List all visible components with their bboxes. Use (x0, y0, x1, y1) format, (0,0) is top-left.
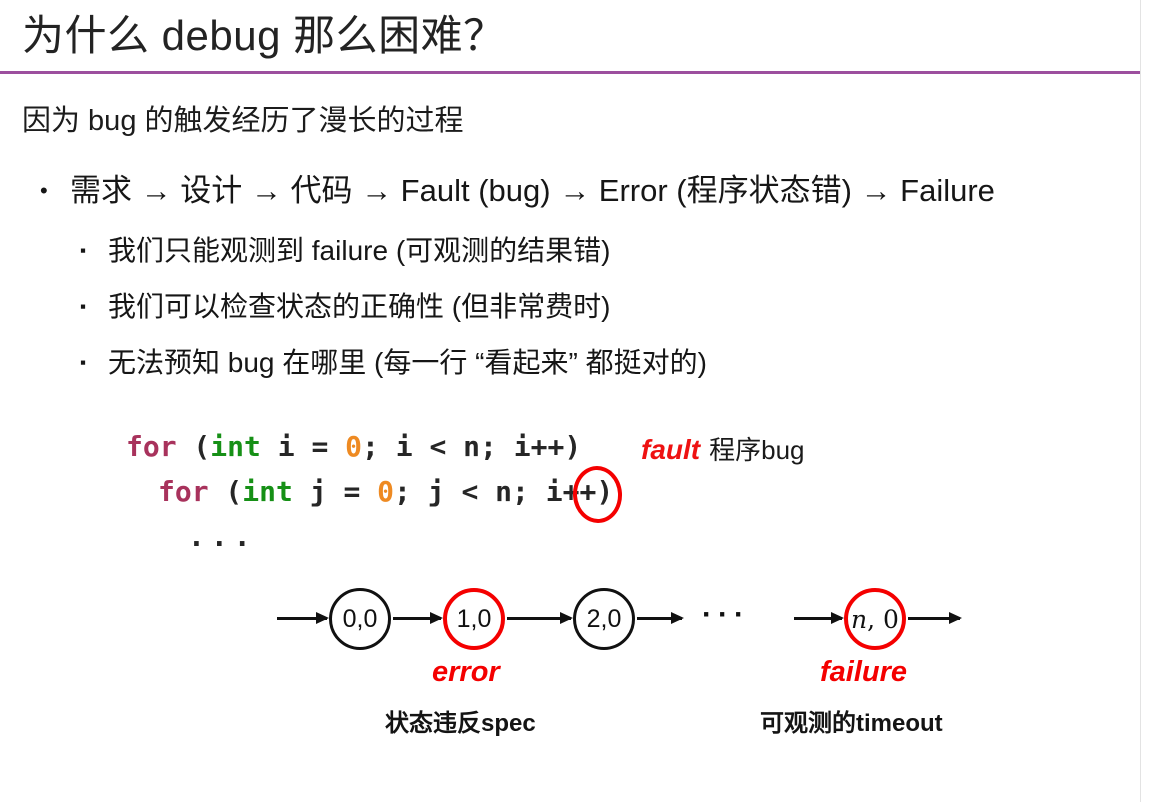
bullet-level2: ▪我们只能观测到 failure (可观测的结果错) (80, 231, 610, 271)
bullet-level2-text: 我们只能观测到 failure (可观测的结果错) (108, 235, 610, 266)
code-line-1: for (int i = 0; i < n; i++) (126, 430, 581, 463)
arrow-icon (507, 617, 571, 620)
error-tag: error (432, 656, 500, 689)
state-machine-diagram: 0,0 1,0 2,0 ··· n, 0 error failure 状态违反s… (0, 560, 1154, 680)
code-type-int: int (242, 475, 293, 508)
state-node-failure: n, 0 (844, 588, 906, 650)
bullet-dot-icon: • (40, 169, 70, 213)
code-text: j = (293, 475, 377, 508)
code-line-3-ellipsis: ... (126, 520, 257, 553)
fault-label: fault (641, 434, 700, 465)
bullet-level2-text: 无法预知 bug 在哪里 (每一行 “看起来” 都挺对的) (108, 347, 707, 378)
state-node-label-var: n (851, 605, 867, 634)
state-node-label-rest: , 0 (867, 605, 899, 634)
bullet-square-icon: ▪ (80, 287, 108, 327)
state-node-label: 2,0 (587, 605, 622, 634)
code-block: for (int i = 0; i < n; i++) for (int j =… (126, 424, 613, 559)
code-punct: ( (177, 430, 211, 463)
code-keyword-for: for (126, 430, 177, 463)
fault-note: 程序bug (709, 435, 804, 465)
state-node: 0,0 (329, 588, 391, 650)
lead-paragraph: 因为 bug 的触发经历了漫长的过程 (22, 101, 464, 141)
bullet-level2: ▪我们可以检查状态的正确性 (但非常费时) (80, 287, 610, 327)
state-node-label: 1,0 (457, 605, 492, 634)
code-number-zero: 0 (345, 430, 362, 463)
diagram-ellipsis: ··· (702, 598, 750, 632)
state-node-error: 1,0 (443, 588, 505, 650)
page-title: 为什么 debug 那么困难？ (22, 6, 506, 66)
code-text: ; i < n; i++) (362, 430, 581, 463)
bullet-level1: •需求 → 设计 → 代码 → Fault (bug) → Error (程序状… (40, 169, 995, 213)
failure-tag: failure (820, 656, 907, 689)
state-node-label: 0,0 (343, 605, 378, 634)
fault-annotation: fault程序bug (641, 430, 805, 467)
code-type-int: int (210, 430, 261, 463)
bullet-square-icon: ▪ (80, 343, 108, 383)
title-underline-rule (0, 71, 1140, 74)
bullet-level2-text: 我们可以检查状态的正确性 (但非常费时) (108, 291, 610, 322)
arrow-icon (637, 617, 682, 620)
bullet-level2: ▪无法预知 bug 在哪里 (每一行 “看起来” 都挺对的) (80, 343, 707, 383)
arrow-icon-initial (277, 617, 327, 620)
code-keyword-for: for (158, 475, 209, 508)
bullet-square-icon: ▪ (80, 231, 108, 271)
slide-canvas: 为什么 debug 那么困难？ 因为 bug 的触发经历了漫长的过程 •需求 →… (0, 0, 1154, 802)
page-right-border (1140, 0, 1141, 802)
caption-error: 状态违反spec (385, 703, 536, 738)
arrow-icon-final (908, 617, 960, 620)
code-line-2: for (int j = 0; j < n; i++) (126, 475, 613, 508)
code-text: i = (261, 430, 345, 463)
caption-failure: 可观测的timeout (760, 703, 943, 738)
bullet-level1-text: 需求 → 设计 → 代码 → Fault (bug) → Error (程序状态… (70, 173, 995, 208)
state-node: 2,0 (573, 588, 635, 650)
arrow-icon (393, 617, 441, 620)
arrow-icon (794, 617, 842, 620)
code-punct: ( (209, 475, 243, 508)
code-number-zero: 0 (377, 475, 394, 508)
